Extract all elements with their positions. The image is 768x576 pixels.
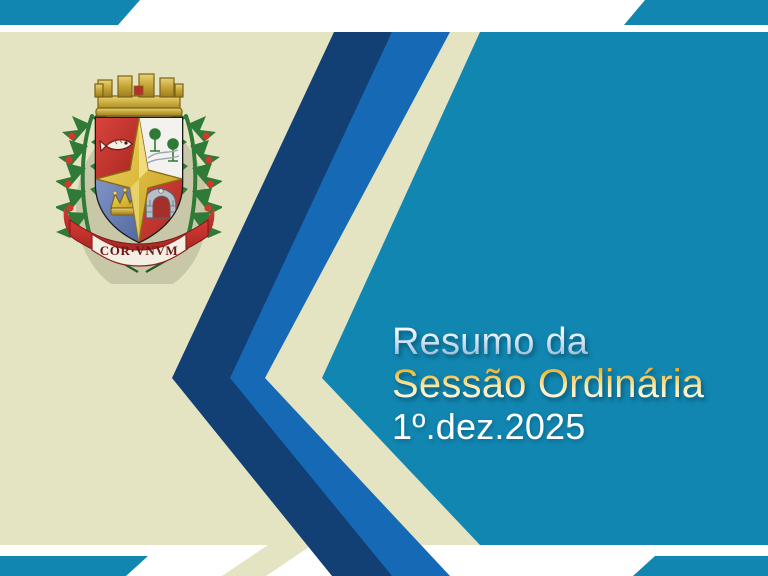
title-line-date: 1º.dez.2025: [392, 409, 732, 446]
bridge-charge: [146, 189, 176, 218]
mural-crown: [95, 74, 183, 116]
motto-text: COR·VNVM: [100, 243, 178, 258]
title-line-sessao-ordinaria: Sessão Ordinária: [392, 364, 732, 405]
coat-of-arms: COR·VNVM: [56, 58, 222, 284]
teal-bar-bottom-right: [633, 556, 768, 576]
title-block: Resumo da Sessão Ordinária 1º.dez.2025: [392, 323, 732, 445]
beige-field-trim: [0, 545, 268, 576]
title-line-resumo: Resumo da: [392, 323, 732, 362]
title-slide: COR·VNVM Resumo da Sessão Ordinária 1º.d…: [0, 0, 768, 576]
teal-bar-top-right: [624, 0, 768, 25]
teal-bar-bottom-left: [0, 556, 148, 576]
blue-chevron: [207, 32, 450, 576]
teal-panel: [322, 32, 768, 545]
teal-bar-top-left: [0, 0, 140, 25]
